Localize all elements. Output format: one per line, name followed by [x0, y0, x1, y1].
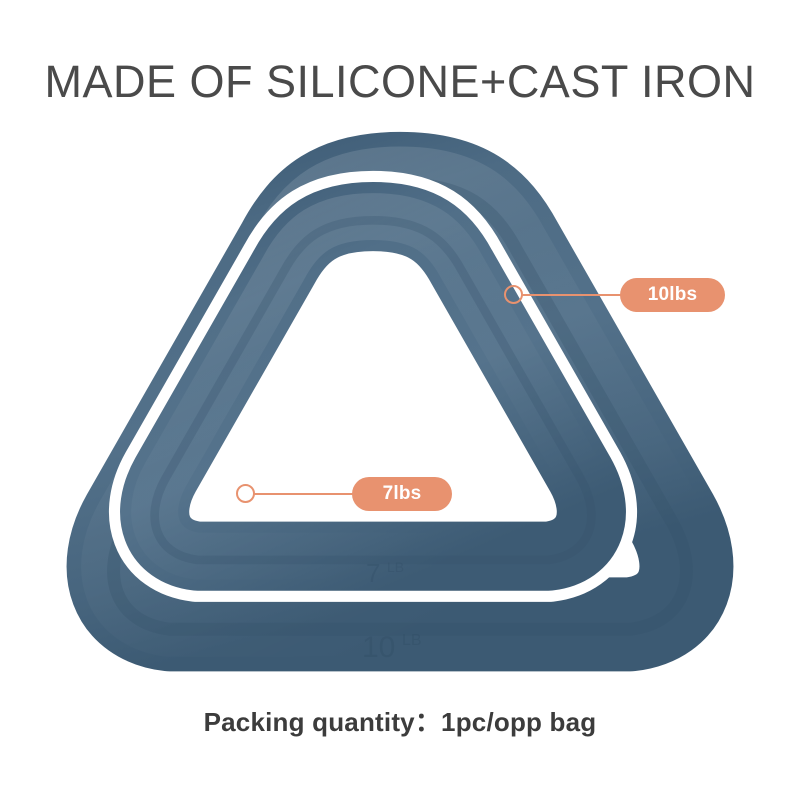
page-title: MADE OF SILICONE+CAST IRON: [0, 57, 800, 107]
emboss-10lb-unit: LB: [402, 632, 422, 649]
callout-label-7lbs: 7lbs: [352, 477, 452, 511]
infographic-canvas: MADE OF SILICONE+CAST IRON: [0, 0, 800, 800]
packing-quantity-caption: Packing quantity：1pc/opp bag: [0, 702, 800, 739]
emboss-10lb-number: 10: [362, 631, 395, 664]
emboss-7lb-unit: LB: [387, 559, 404, 575]
callout-leader-10lbs: [521, 294, 626, 296]
product-svg: 10 LB 7 LB: [60, 130, 740, 700]
callout-label-10lbs: 10lbs: [620, 278, 725, 312]
callout-leader-7lbs: [253, 493, 357, 495]
product-illustration: 10 LB 7 LB: [60, 130, 740, 700]
emboss-7lb-number: 7: [366, 558, 380, 588]
